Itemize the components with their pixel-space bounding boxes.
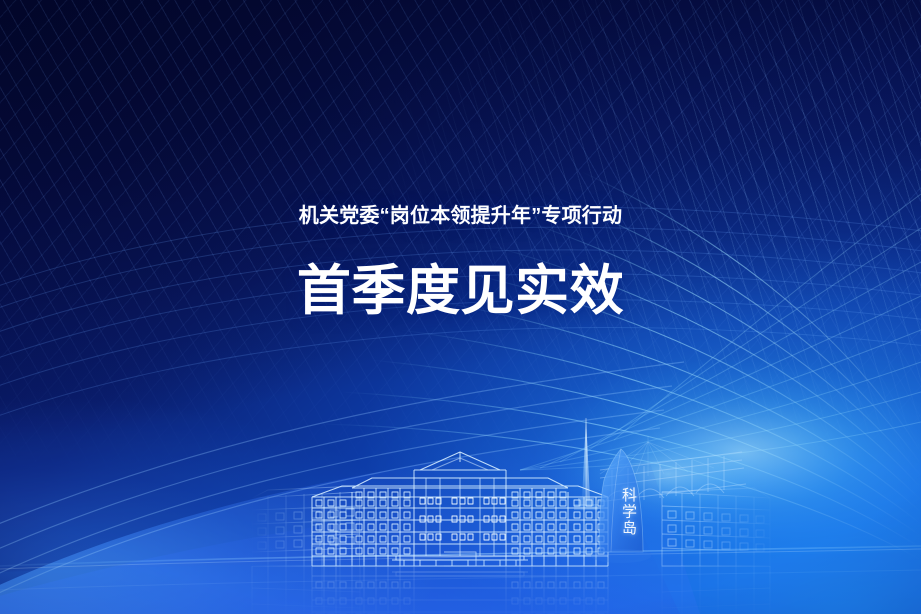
- banner-title-line-2: 首季度见实效: [0, 264, 921, 318]
- obelisk-monument-graphic: [574, 418, 598, 510]
- stele-inscription-text: 科学岛: [611, 487, 637, 537]
- banner-image: 科学岛 机关党委“岗位本领提升年”专项行动 首季度见实效: [0, 0, 921, 614]
- banner-title-line-1: 机关党委“岗位本领提升年”专项行动: [0, 206, 921, 226]
- right-wing-building: [662, 488, 770, 566]
- main-building-graphic: [312, 452, 608, 566]
- banner-title-block: 机关党委“岗位本领提升年”专项行动 首季度见实效: [0, 206, 921, 318]
